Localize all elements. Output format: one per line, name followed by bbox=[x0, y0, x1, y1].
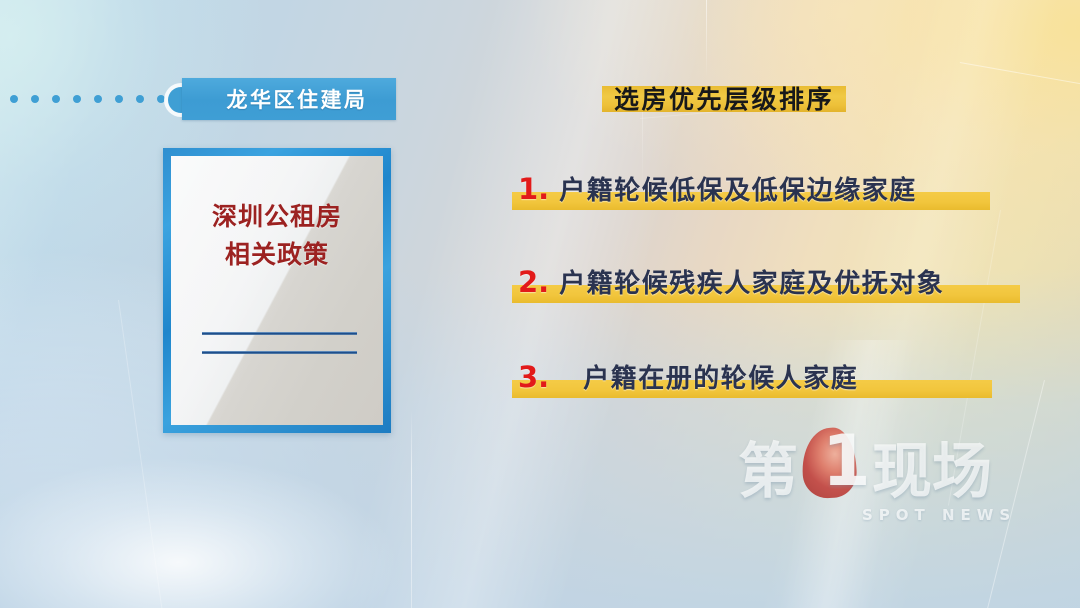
policy-card-sheen bbox=[171, 156, 383, 425]
list-item: 3. 户籍在册的轮候人家庭 bbox=[518, 358, 858, 395]
channel-watermark-row: 第 1 现场 bbox=[738, 428, 1038, 502]
list-item-label: 户籍在册的轮候人家庭 bbox=[583, 358, 858, 395]
policy-card-rule-line bbox=[202, 351, 357, 354]
channel-tagline: SPOT NEWS bbox=[738, 506, 1038, 524]
channel-number-mark: 1 bbox=[800, 428, 870, 502]
list-item-number: 2. bbox=[518, 265, 549, 299]
leader-dot-icon bbox=[10, 95, 18, 103]
list-item-number: 1. bbox=[518, 172, 549, 206]
source-badge-label: 龙华区住建局 bbox=[211, 84, 368, 114]
policy-card-title-line-1: 深圳公租房 bbox=[171, 198, 383, 236]
panel-title-highlight: 选房优先层级排序 bbox=[614, 80, 834, 116]
priority-ranking-panel: 选房优先层级排序 1. 户籍轮候低保及低保边缘家庭 2. 户籍轮候残疾人家庭及优… bbox=[510, 62, 1050, 422]
panel-title: 选房优先层级排序 bbox=[614, 85, 834, 114]
policy-card-title-line-2: 相关政策 bbox=[171, 236, 383, 274]
channel-name-right: 现场 bbox=[872, 442, 992, 502]
panel-title-wrap: 选房优先层级排序 bbox=[614, 80, 834, 116]
leader-dot-icon bbox=[136, 95, 144, 103]
leader-dot-icon bbox=[157, 95, 165, 103]
policy-card-rules bbox=[202, 332, 357, 370]
source-badge: 龙华区住建局 bbox=[182, 78, 396, 120]
list-item-number: 3. bbox=[518, 360, 549, 394]
policy-card-body: 深圳公租房 相关政策 bbox=[171, 156, 383, 425]
leader-dot-icon bbox=[73, 95, 81, 103]
leader-dot-icon bbox=[52, 95, 60, 103]
policy-document-card: 深圳公租房 相关政策 bbox=[163, 148, 391, 433]
leader-dot-icon bbox=[94, 95, 102, 103]
channel-name-left: 第 bbox=[738, 442, 798, 502]
background-vertical-line bbox=[411, 410, 412, 608]
channel-watermark: 第 1 现场 SPOT NEWS bbox=[738, 428, 1038, 532]
leader-dot-icon bbox=[115, 95, 123, 103]
broadcast-graphic: 龙华区住建局 深圳公租房 相关政策 选房优先层级排序 1. bbox=[0, 0, 1080, 608]
list-item-label: 户籍轮候残疾人家庭及优抚对象 bbox=[559, 263, 944, 300]
leader-dot-icon bbox=[31, 95, 39, 103]
policy-card-title: 深圳公租房 相关政策 bbox=[171, 198, 383, 274]
policy-card-rule-line bbox=[202, 332, 357, 335]
list-item: 1. 户籍轮候低保及低保边缘家庭 bbox=[518, 170, 917, 207]
channel-number: 1 bbox=[822, 426, 871, 496]
list-item: 2. 户籍轮候残疾人家庭及优抚对象 bbox=[518, 263, 944, 300]
list-item-label: 户籍轮候低保及低保边缘家庭 bbox=[559, 170, 917, 207]
